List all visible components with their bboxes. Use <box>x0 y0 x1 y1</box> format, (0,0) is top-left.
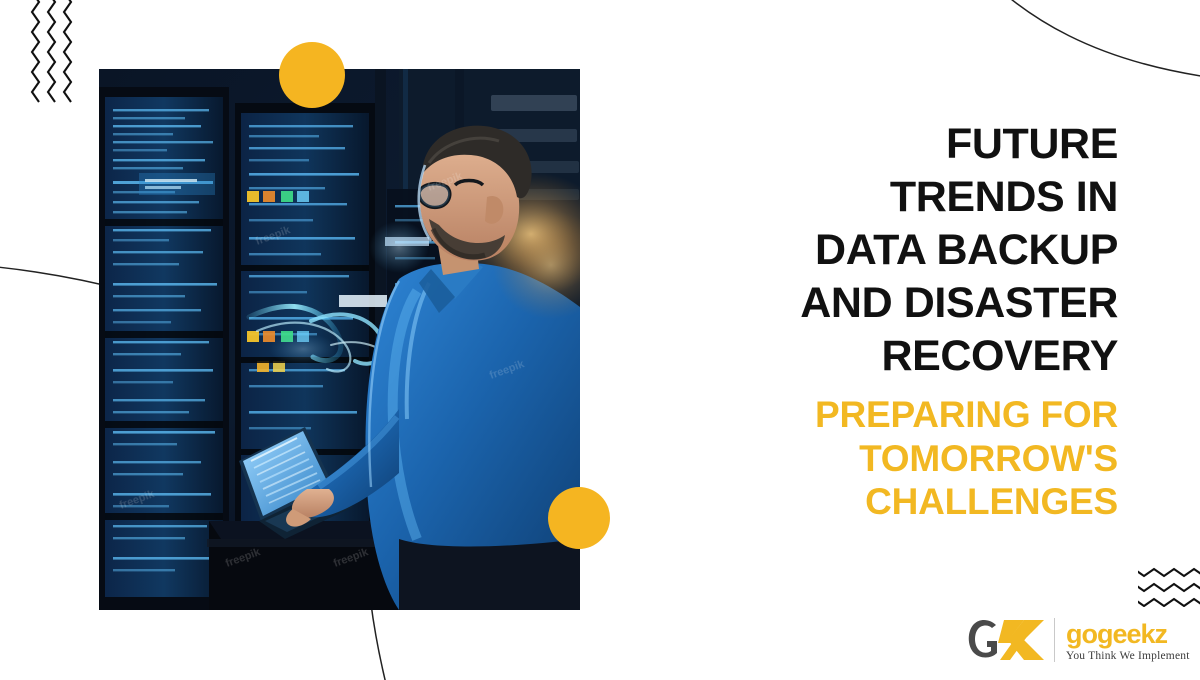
title-line: RECOVERY <box>700 330 1118 383</box>
poster-canvas: freepik freepik freepik freepik freepik … <box>0 0 1200 680</box>
arc-top-right-icon <box>990 0 1200 130</box>
logo-tagline: You Think We Implement <box>1066 650 1198 662</box>
data-center-illustration: freepik freepik freepik freepik freepik … <box>99 69 580 610</box>
subtitle-line: CHALLENGES <box>700 480 1118 523</box>
title-line: DATA BACKUP <box>700 224 1118 277</box>
subtitle-line: PREPARING FOR <box>700 393 1118 436</box>
logo-divider <box>1054 618 1055 662</box>
yellow-circle-top <box>279 42 345 108</box>
title-line: AND DISASTER <box>700 277 1118 330</box>
subtitle-line: TOMORROW'S <box>700 437 1118 480</box>
page-subtitle: PREPARING FOR TOMORROW'S CHALLENGES <box>700 393 1118 523</box>
title-line: FUTURE <box>700 118 1118 171</box>
logo-text-group: gogeekz You Think We Implement <box>1066 619 1198 662</box>
hero-photo: freepik freepik freepik freepik freepik … <box>99 69 580 610</box>
headline-block: FUTURE TRENDS IN DATA BACKUP AND DISASTE… <box>700 118 1118 523</box>
arc-bottom-left-icon <box>350 600 440 680</box>
title-line: TRENDS IN <box>700 171 1118 224</box>
wordmark-text: gogeekz <box>1066 619 1168 649</box>
yellow-circle-bottom <box>548 487 610 549</box>
zigzag-bottom-right-icon <box>1138 565 1200 607</box>
zigzag-top-left-icon <box>28 0 76 104</box>
gk-monogram-icon <box>966 615 1050 665</box>
gogeekz-wordmark-icon: gogeekz <box>1066 619 1198 649</box>
page-title: FUTURE TRENDS IN DATA BACKUP AND DISASTE… <box>700 118 1118 382</box>
brand-logo[interactable]: gogeekz You Think We Implement <box>966 612 1198 668</box>
